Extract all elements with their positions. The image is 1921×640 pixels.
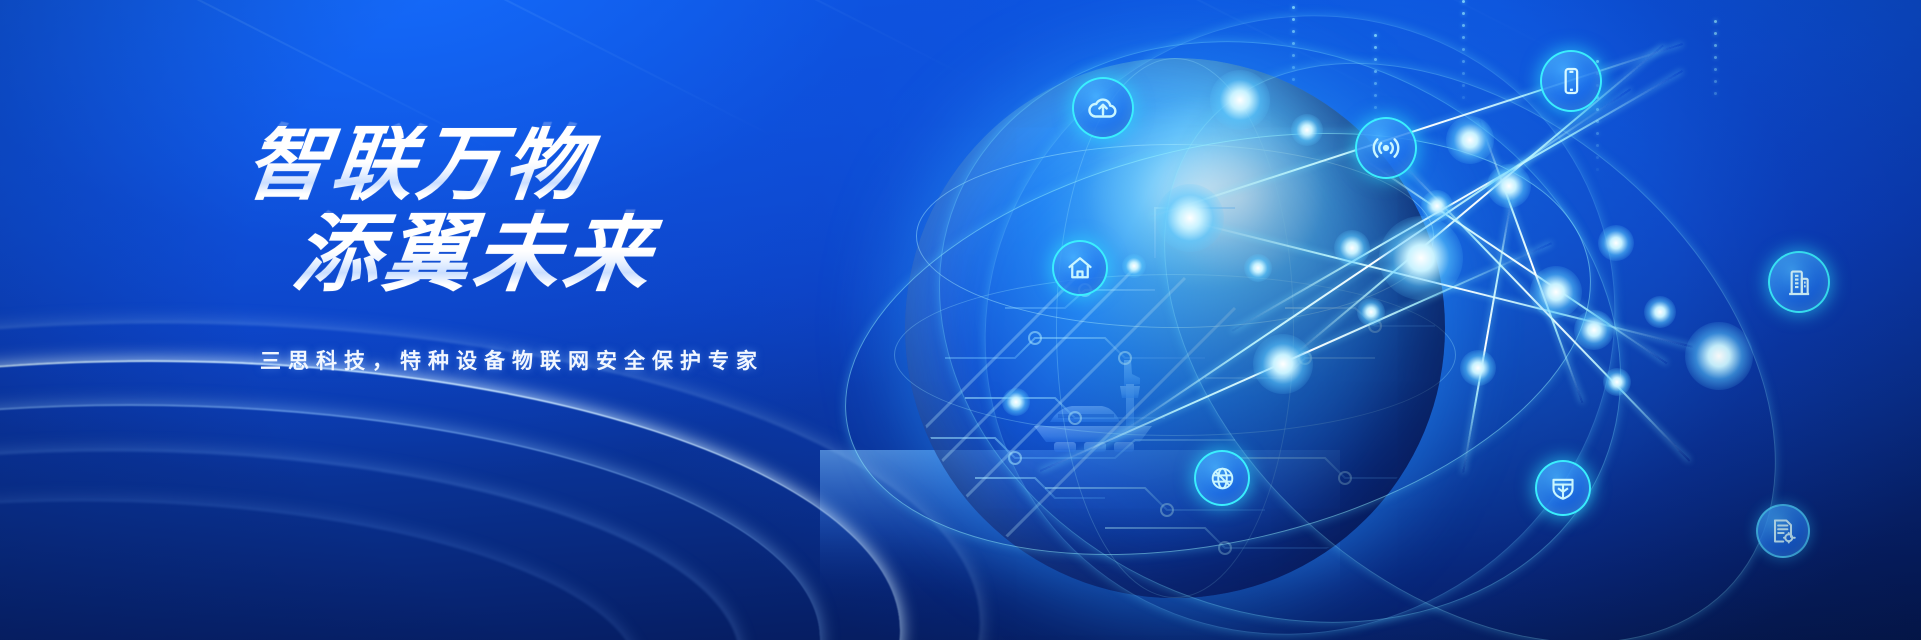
diagonal-sheen <box>223 0 776 139</box>
hero-subtitle: 三思科技，特种设备物联网安全保护专家 <box>260 345 1006 375</box>
hero-banner: 智联万物 添翼未来 三思科技，特种设备物联网安全保护专家 <box>0 0 1921 640</box>
light-trail <box>0 404 820 640</box>
smartphone-icon[interactable] <box>1540 50 1602 112</box>
shield-box-icon[interactable] <box>1535 460 1591 516</box>
glow-node <box>1644 296 1676 328</box>
glow-node <box>1603 368 1631 396</box>
glow-node <box>1685 322 1753 390</box>
glow-node <box>1598 225 1634 261</box>
dotted-trail <box>1292 6 1295 90</box>
wifi-signal-icon[interactable] <box>1355 117 1417 179</box>
dotted-trail <box>1462 0 1465 108</box>
hero-copy: 智联万物 添翼未来 三思科技，特种设备物联网安全保护专家 <box>246 126 1006 375</box>
headline-line-1: 智联万物 <box>241 126 1011 205</box>
building-icon[interactable] <box>1768 251 1830 313</box>
headline-line-2: 添翼未来 <box>289 213 1011 296</box>
network-beam <box>1479 121 1583 403</box>
globe-network-icon[interactable] <box>1194 450 1250 506</box>
dotted-trail <box>1374 34 1377 130</box>
network-beam <box>1463 197 1513 473</box>
glow-node <box>1574 310 1614 350</box>
light-trail <box>0 360 900 640</box>
document-gear-icon[interactable] <box>1756 504 1810 558</box>
home-icon[interactable] <box>1052 240 1108 296</box>
light-trail <box>0 500 640 640</box>
dotted-trail <box>1714 20 1717 104</box>
cloud-upload-icon[interactable] <box>1072 77 1134 139</box>
light-trail <box>0 450 740 640</box>
glow-node <box>1530 266 1582 318</box>
diagonal-sheen <box>1108 0 1572 60</box>
